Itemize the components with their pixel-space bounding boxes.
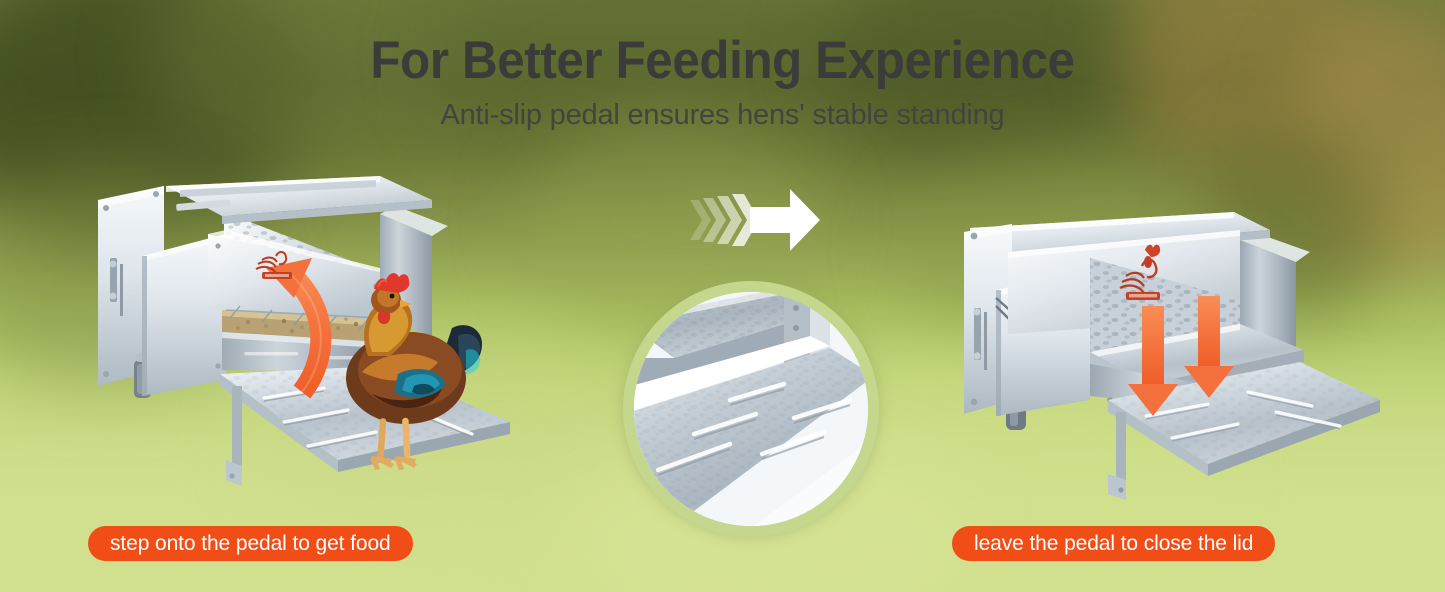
page-title: For Better Feeding Experience xyxy=(51,34,1395,89)
transition-arrow xyxy=(690,186,820,254)
inset-image xyxy=(634,292,868,526)
caption-left: step onto the pedal to get food xyxy=(88,526,413,561)
product-photo-open xyxy=(80,160,520,510)
page-subtitle: Anti-slip pedal ensures hens' stable sta… xyxy=(0,99,1445,132)
caption-right: leave the pedal to close the lid xyxy=(952,526,1275,561)
feeder-closed-illustration xyxy=(940,200,1380,510)
arrow-right-icon xyxy=(690,186,820,254)
pedal-closeup-inset xyxy=(623,281,879,537)
promo-banner: For Better Feeding Experience Anti-slip … xyxy=(0,0,1445,592)
product-photo-closed xyxy=(940,200,1380,510)
headline-block: For Better Feeding Experience Anti-slip … xyxy=(0,34,1445,132)
feeder-open-illustration xyxy=(80,160,520,510)
